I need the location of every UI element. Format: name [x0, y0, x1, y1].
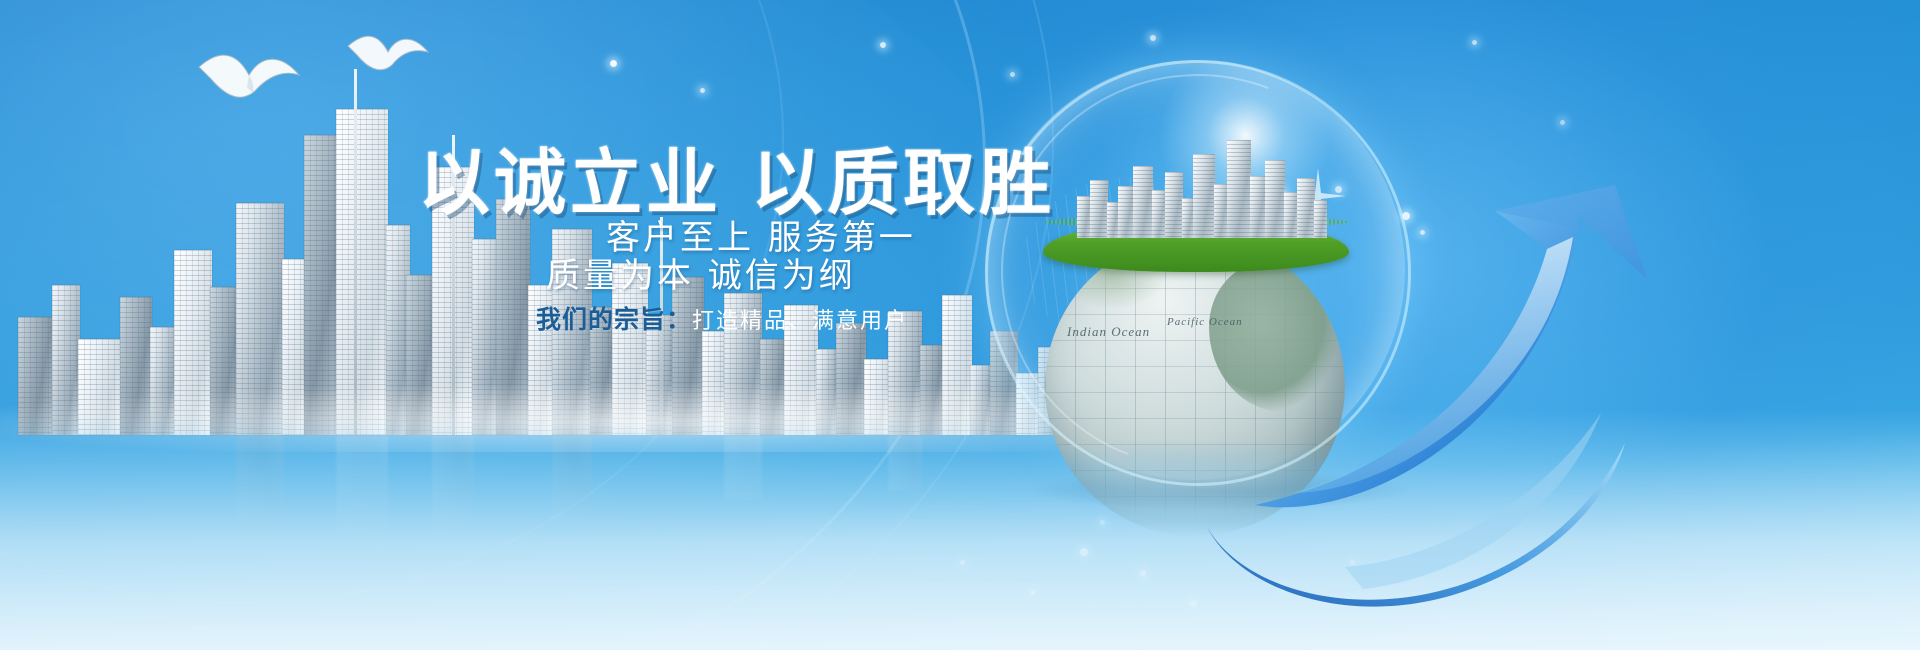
motto: 我们的宗旨：打造精品、满意用户 [536, 300, 908, 336]
swoosh-arrow [1195, 175, 1715, 615]
motto-label: 我们的宗旨： [536, 305, 692, 334]
sparkle-dot [610, 60, 617, 67]
sparkle-dot [1560, 120, 1565, 125]
seagull-icon [345, 28, 431, 84]
sparkle-dot [700, 88, 705, 93]
subtitle-line-2: 质量为本 诚信为纲 [546, 248, 856, 297]
promo-banner: Indian Ocean Pacific Ocean [0, 0, 1920, 650]
sparkle-dot [1150, 35, 1156, 41]
antenna-spire [354, 69, 357, 435]
sparkle-dot [1472, 40, 1477, 45]
motto-value: 打造精品、满意用户 [692, 309, 908, 334]
sparkle-dot [880, 42, 886, 48]
